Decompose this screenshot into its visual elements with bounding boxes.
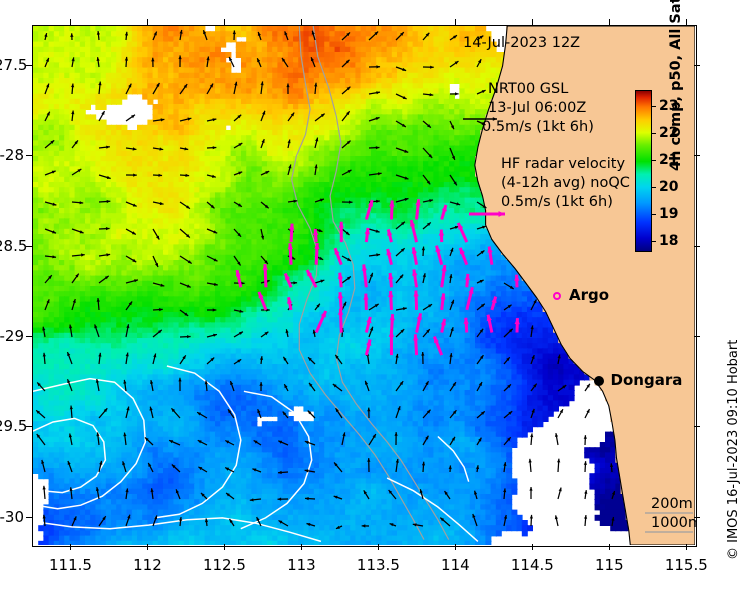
map-marker-dongara-icon[interactable] (594, 376, 604, 386)
colorbar-tickmark (652, 214, 656, 215)
model-velocity-arrow (153, 283, 164, 287)
x-axis-tick-label: 112 (133, 556, 162, 574)
model-velocity-arrow (99, 227, 110, 230)
model-velocity-arrow (99, 175, 111, 179)
model-velocity-arrow (207, 283, 218, 286)
model-velocity-arrow (234, 172, 242, 175)
model-annotation-line1: NRT00 GSL (488, 81, 568, 98)
depth-scale-1000m: 1000m (651, 515, 697, 532)
hf-radar-arrow (338, 292, 343, 310)
model-velocity-arrow (180, 147, 188, 150)
ssh-contour-6 (438, 437, 469, 482)
model-velocity-arrow (450, 92, 459, 95)
model-velocity-arrow (584, 435, 587, 445)
model-velocity-arrow (126, 407, 130, 418)
model-velocity-arrow (503, 488, 506, 499)
model-velocity-arrow (252, 469, 261, 473)
model-velocity-arrow (558, 385, 566, 391)
hf-radar-arrow (387, 229, 392, 242)
model-velocity-arrow (529, 459, 532, 472)
hf-radar-arrow (366, 317, 371, 333)
model-velocity-arrow (179, 55, 182, 67)
model-velocity-arrow (45, 202, 56, 206)
hf-radar-arrow (442, 205, 447, 220)
model-velocity-arrow (45, 140, 54, 148)
model-velocity-arrow (180, 256, 192, 264)
x-tickmark-top (301, 19, 302, 25)
model-velocity-arrow (207, 84, 213, 94)
model-velocity-arrow (198, 467, 207, 472)
model-velocity-arrow (450, 35, 457, 40)
model-annotation-line2: 13-Jul 06:00Z (488, 100, 586, 117)
hf-radar-arrow (412, 247, 417, 264)
model-velocity-arrow (450, 248, 453, 256)
model-velocity-arrow (396, 121, 406, 127)
x-axis-tick-label: 111.5 (49, 556, 92, 574)
colorbar-tickmark (652, 187, 656, 188)
map-marker-argo-label: Argo (569, 286, 609, 304)
model-velocity-arrow (207, 118, 216, 121)
model-velocity-arrow (288, 164, 291, 175)
model-velocity-arrow (99, 146, 110, 149)
hf-radar-arrow (390, 314, 395, 332)
model-velocity-arrow (122, 461, 126, 472)
model-velocity-arrow (477, 280, 484, 283)
hf-radar-arrow (434, 337, 442, 356)
model-velocity-arrow (365, 381, 369, 391)
model-velocity-arrow (342, 229, 350, 235)
model-velocity-arrow (423, 121, 431, 128)
model-velocity-arrow (395, 354, 398, 364)
x-tickmark (301, 544, 302, 550)
model-velocity-arrow (172, 465, 180, 472)
model-velocity-arrow (336, 526, 342, 529)
model-velocity-arrow (72, 253, 85, 256)
model-velocity-arrow (260, 356, 263, 364)
model-velocity-arrow (69, 325, 72, 337)
model-velocity-arrow (230, 381, 234, 391)
hf-radar-arrow (413, 334, 418, 355)
model-velocity-arrow (45, 275, 52, 283)
model-velocity-arrow (97, 31, 100, 40)
model-velocity-arrow (369, 434, 376, 445)
model-velocity-arrow (440, 518, 450, 526)
model-velocity-arrow (396, 275, 403, 283)
model-velocity-arrow (477, 329, 483, 337)
model-velocity-arrow (42, 327, 45, 337)
model-velocity-arrow (97, 298, 100, 310)
model-velocity-arrow (180, 310, 188, 316)
model-velocity-arrow (422, 462, 425, 472)
model-velocity-arrow (207, 334, 217, 337)
x-tickmark (147, 544, 148, 550)
model-velocity-arrow (555, 515, 558, 526)
model-velocity-arrow (151, 58, 154, 67)
model-velocity-arrow (234, 332, 243, 337)
model-velocity-arrow (369, 172, 382, 175)
model-velocity-arrow (476, 465, 479, 472)
model-velocity-arrow (234, 229, 241, 237)
model-velocity-arrow (423, 329, 430, 337)
model-velocity-arrow (450, 226, 459, 229)
model-velocity-arrow (396, 381, 403, 391)
x-axis-tick-label: 115.5 (665, 556, 708, 574)
model-velocity-arrow (396, 459, 399, 472)
model-velocity-arrow (205, 518, 208, 526)
model-velocity-arrow (450, 410, 456, 418)
model-velocity-arrow (308, 357, 315, 364)
hf-radar-arrow (389, 331, 394, 355)
model-velocity-arrow (477, 438, 481, 445)
colorbar-tickmark (652, 133, 656, 134)
model-velocity-arrow (423, 175, 430, 184)
model-velocity-arrow (207, 308, 216, 311)
x-tickmark-top (70, 19, 71, 25)
model-velocity-arrow (259, 382, 262, 391)
x-tickmark-top (686, 19, 687, 25)
model-velocity-arrow (98, 82, 101, 94)
model-velocity-arrow (234, 143, 242, 148)
hf-radar-arrow (362, 264, 367, 287)
model-velocity-arrow (126, 229, 136, 234)
hf-radar-arrow (413, 290, 418, 309)
model-velocity-arrow (286, 83, 289, 94)
model-velocity-arrow (153, 32, 157, 40)
model-velocity-arrow (611, 517, 614, 526)
model-velocity-arrow (180, 202, 190, 209)
model-velocity-arrow (72, 201, 83, 204)
model-velocity-arrow (369, 91, 380, 94)
x-tickmark-top (455, 19, 456, 25)
model-velocity-arrow (396, 307, 407, 310)
model-velocity-arrow (36, 410, 45, 418)
x-tickmark (609, 544, 610, 550)
colorbar-tickmark (652, 160, 656, 161)
hf-radar-arrow (417, 313, 422, 332)
model-velocity-arrow (423, 148, 432, 158)
model-velocity-arrow (395, 432, 398, 445)
model-velocity-arrow (450, 121, 454, 129)
model-velocity-arrow (94, 324, 99, 337)
model-velocity-arrow (261, 256, 268, 264)
x-axis-tick-label: 114 (441, 556, 470, 574)
hf-radar-arrow (365, 228, 370, 242)
y-tickmark-right (694, 336, 700, 337)
model-velocity-arrow (70, 33, 73, 40)
hf-radar-arrow (335, 248, 342, 264)
model-velocity-arrow (207, 202, 214, 208)
model-velocity-arrow (153, 118, 164, 121)
model-velocity-arrow (396, 32, 404, 40)
model-velocity-arrow (286, 329, 289, 337)
model-velocity-arrow (389, 490, 396, 499)
hf-radar-arrow (439, 230, 444, 243)
model-velocity-arrow (342, 141, 351, 148)
model-velocity-arrow (472, 514, 477, 526)
hf-radar-arrow (436, 246, 442, 265)
bathymetry-contour-200m (313, 26, 449, 540)
model-velocity-arrow (153, 353, 156, 364)
model-velocity-arrow (421, 352, 424, 364)
hf-radar-arrow (314, 243, 319, 265)
model-velocity-arrow (504, 515, 507, 526)
model-velocity-arrow (225, 441, 234, 445)
model-velocity-arrow (226, 493, 234, 499)
model-velocity-arrow (98, 353, 101, 364)
ssh-contour-1 (33, 418, 105, 492)
model-velocity-arrow (367, 458, 370, 472)
model-velocity-arrow (207, 175, 216, 178)
model-velocity-arrow (43, 353, 46, 364)
model-velocity-arrow (283, 412, 288, 418)
model-velocity-arrow (148, 463, 153, 472)
figure-title: 14-Jul-2023 12Z (463, 35, 580, 52)
model-velocity-arrow (342, 277, 351, 283)
model-velocity-arrow (306, 523, 315, 526)
model-velocity-arrow (530, 515, 533, 526)
model-velocity-arrow (450, 300, 454, 310)
model-velocity-arrow (150, 407, 154, 418)
x-tickmark-top (378, 19, 379, 25)
model-velocity-arrow (126, 301, 132, 310)
model-velocity-arrow (69, 434, 72, 445)
model-velocity-arrow (261, 111, 265, 121)
model-velocity-arrow (180, 229, 190, 238)
model-velocity-arrow (126, 174, 137, 177)
y-tickmark-right (694, 517, 700, 518)
ssh-contour-0 (33, 379, 145, 509)
hf-radar-arrow (236, 270, 241, 287)
model-velocity-arrow (229, 57, 234, 67)
y-axis-tick-label: 27.5 (0, 56, 24, 74)
model-velocity-arrow (450, 61, 459, 67)
colorbar-gradient (635, 90, 652, 252)
model-velocity-arrow (257, 58, 261, 67)
model-velocity-arrow (305, 469, 315, 472)
model-velocity-arrow (153, 202, 164, 205)
map-marker-dongara-label: Dongara (611, 371, 683, 389)
model-velocity-arrow (449, 353, 452, 364)
hf-radar-arrow (492, 297, 497, 310)
model-velocity-arrow (369, 117, 380, 121)
model-velocity-arrow (342, 432, 346, 445)
model-velocity-arrow (477, 90, 486, 94)
model-velocity-arrow (126, 147, 136, 150)
model-velocity-arrow (180, 84, 187, 94)
model-velocity-arrow (450, 175, 457, 185)
hf-radar-arrow (515, 318, 520, 332)
model-velocity-arrow (178, 378, 181, 391)
model-velocity-arrow (72, 299, 76, 310)
model-velocity-arrow (423, 436, 428, 445)
model-velocity-arrow (369, 229, 380, 233)
model-velocity-arrow (198, 440, 207, 445)
x-tickmark (70, 544, 71, 550)
model-velocity-arrow (153, 83, 159, 94)
hf-radar-arrow (441, 319, 446, 333)
model-velocity-arrow (234, 115, 241, 121)
model-velocity-arrow (314, 83, 317, 94)
colorbar-tickmark (652, 106, 656, 107)
model-velocity-arrow (450, 382, 456, 391)
y-axis-tick-label: -28 (0, 146, 24, 164)
model-velocity-arrow (396, 198, 408, 202)
x-tickmark (455, 544, 456, 550)
model-velocity-arrow (278, 520, 288, 526)
hf-radar-arrow (338, 273, 343, 288)
model-velocity-arrow (305, 497, 315, 500)
hf-radar-arrow (464, 318, 469, 333)
y-tickmark (26, 336, 32, 337)
model-velocity-arrow (99, 253, 110, 256)
model-velocity-arrow (99, 200, 110, 203)
model-velocity-arrow (45, 299, 49, 310)
model-velocity-arrow (283, 357, 288, 364)
model-velocity-arrow (367, 408, 370, 418)
model-velocity-arrow (150, 380, 153, 391)
model-velocity-arrow (99, 408, 107, 418)
hf-radar-arrow (415, 199, 420, 219)
model-velocity-arrow (176, 489, 180, 499)
model-velocity-arrow (72, 140, 78, 148)
model-velocity-arrow (474, 491, 477, 499)
model-velocity-arrow (72, 274, 79, 283)
radar-annotation-line2: (4-12h avg) noQC (501, 175, 630, 192)
x-tickmark (378, 544, 379, 550)
model-velocity-arrow (450, 148, 455, 160)
model-velocity-arrow (504, 437, 511, 445)
hf-radar-arrow (514, 275, 519, 288)
model-velocity-arrow (207, 358, 214, 364)
model-velocity-arrow (207, 256, 218, 261)
hf-radar-arrow (410, 220, 417, 242)
hf-radar-arrow (467, 287, 474, 310)
hf-radar-arrow (289, 224, 294, 243)
x-axis-tick-label: 115 (595, 556, 624, 574)
hf-radar-velocity-vectors (236, 199, 520, 355)
sst-map-figure: 14-Jul-2023 12Z NRT00 GSL 13-Jul 06:00Z … (0, 0, 740, 592)
model-velocity-arrow (234, 359, 241, 364)
radar-annotation-line3: 0.5m/s (1kt 6h) (501, 194, 613, 211)
depth-scale-200m: 200m (651, 496, 693, 513)
ssh-contour-5 (387, 478, 478, 541)
model-velocity-arrow (99, 516, 106, 526)
model-annotation-line3: 0.5m/s (1kt 6h) (482, 119, 594, 136)
y-tickmark-right (694, 426, 700, 427)
hf-radar-arrow (287, 297, 292, 310)
model-velocity-arrow (530, 433, 533, 445)
model-velocity-arrow (477, 202, 486, 208)
y-tickmark-right (694, 246, 700, 247)
model-velocity-arrow (504, 283, 514, 289)
model-velocity-arrow (96, 487, 99, 499)
model-velocity-arrow (126, 115, 135, 121)
model-velocity-arrow (558, 355, 561, 364)
model-velocity-arrow (315, 304, 320, 310)
colorbar-tick-label: 18 (659, 233, 678, 249)
y-tickmark-right (694, 65, 700, 66)
model-velocity-arrow (396, 248, 405, 256)
hf-radar-arrow (388, 291, 393, 310)
model-velocity-arrow (169, 440, 180, 445)
model-velocity-arrow (258, 32, 261, 40)
y-axis-tick-label: 29.5 (0, 417, 24, 435)
model-velocity-arrow (369, 253, 380, 256)
x-tickmark-top (147, 19, 148, 25)
model-velocity-arrow (207, 229, 217, 233)
model-velocity-arrow (153, 229, 159, 240)
model-velocity-arrow (504, 357, 510, 364)
model-velocity-arrow (477, 251, 484, 256)
hf-radar-arrow (389, 200, 394, 219)
x-tickmark-top (224, 19, 225, 25)
model-velocity-arrow (449, 274, 452, 283)
hf-radar-arrow (338, 309, 343, 333)
model-velocity-arrow (179, 517, 182, 526)
model-velocity-arrow (584, 515, 587, 526)
model-velocity-arrow (41, 460, 45, 472)
model-velocity-arrow (261, 332, 268, 337)
model-velocity-arrow (477, 226, 486, 229)
model-velocity-arrow (43, 486, 46, 499)
model-velocity-arrow (153, 256, 158, 267)
model-velocity-arrow (153, 147, 163, 150)
model-velocity-arrow (126, 353, 129, 364)
model-velocity-arrow (423, 66, 434, 69)
hf-radar-arrow (363, 294, 368, 310)
hf-radar-arrow (316, 311, 326, 333)
model-velocity-arrow (585, 384, 590, 391)
model-velocity-arrow (334, 462, 342, 472)
model-velocity-arrow (369, 273, 373, 283)
model-velocity-arrow (153, 308, 163, 311)
model-velocity-arrow (71, 111, 74, 121)
model-velocity-arrow (180, 283, 191, 288)
model-velocity-arrow (531, 300, 536, 310)
radar-reference-arrow (469, 211, 505, 217)
model-velocity-arrow (396, 329, 404, 337)
model-velocity-arrow (315, 199, 324, 202)
model-velocity-arrow (180, 30, 183, 40)
radar-annotation-line1: HF radar velocity (501, 156, 625, 173)
model-velocity-arrow (308, 411, 315, 418)
hf-radar-arrow (366, 200, 373, 219)
hf-radar-arrow (441, 265, 446, 287)
model-velocity-arrow (315, 138, 318, 148)
model-velocity-arrow (71, 84, 74, 94)
model-velocity-arrow (342, 32, 350, 40)
hf-radar-arrow (487, 247, 492, 265)
model-velocity-arrow (477, 304, 485, 310)
colorbar: 181920212223 (635, 90, 652, 252)
model-velocity-arrow (45, 112, 50, 121)
model-velocity-arrow (362, 524, 369, 527)
y-tickmark-right (694, 155, 700, 156)
model-velocity-arrow (584, 461, 587, 472)
model-velocity-arrow (261, 229, 264, 240)
model-velocity-arrow (342, 170, 352, 175)
model-velocity-arrow (334, 496, 342, 499)
model-velocity-arrow (201, 493, 207, 499)
model-velocity-arrow (584, 490, 587, 499)
model-velocity-arrow (123, 433, 126, 445)
model-velocity-arrow (364, 490, 369, 499)
model-velocity-arrow (555, 433, 558, 445)
model-velocity-arrow (261, 202, 269, 208)
model-velocity-arrow (261, 139, 265, 148)
model-velocity-arrow (125, 57, 128, 67)
model-velocity-arrow (396, 222, 405, 229)
